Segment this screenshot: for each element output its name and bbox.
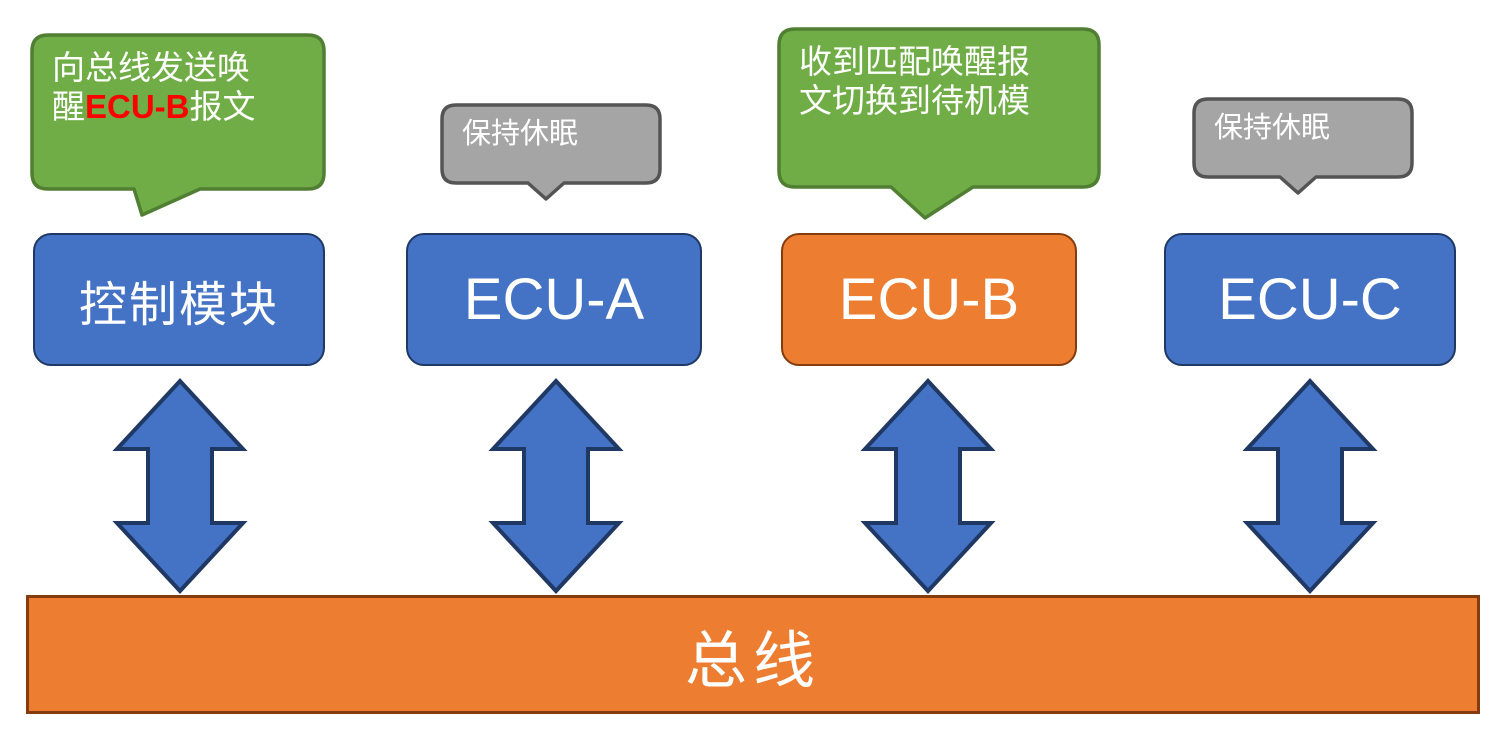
node-ecu-a-label: ECU-A: [464, 266, 644, 333]
callout-ecu-a[interactable]: 保持休眠: [440, 103, 662, 219]
node-control-module-label: 控制模块: [79, 265, 279, 335]
arrow-control-module-bus: [112, 378, 248, 594]
bus-bar[interactable]: 总线: [26, 595, 1480, 714]
double-arrow-icon: [112, 378, 248, 594]
callout-ecu-c[interactable]: 保持休眠: [1192, 97, 1414, 213]
arrow-ecu-a-bus: [488, 378, 624, 594]
double-arrow-icon: [1242, 378, 1378, 594]
node-ecu-b-label: ECU-B: [839, 266, 1019, 333]
callout-bubble-shape: [30, 33, 326, 219]
node-control-module[interactable]: 控制模块: [33, 233, 325, 366]
arrow-ecu-c-bus: [1242, 378, 1378, 594]
double-arrow-icon: [860, 378, 996, 594]
double-arrow-icon: [488, 378, 624, 594]
node-ecu-c[interactable]: ECU-C: [1164, 233, 1456, 366]
bus-bar-label: 总线: [685, 610, 821, 700]
arrow-ecu-b-bus: [860, 378, 996, 594]
callout-bubble-shape: [1192, 97, 1414, 213]
callout-ecu-b[interactable]: 收到匹配唤醒报 文切换到待机模: [777, 27, 1102, 222]
callout-bubble-shape: [440, 103, 662, 219]
node-ecu-b[interactable]: ECU-B: [781, 233, 1077, 366]
callout-control-module[interactable]: 向总线发送唤 醒ECU-B报文: [30, 33, 326, 219]
node-ecu-c-label: ECU-C: [1218, 266, 1402, 333]
diagram-canvas: 向总线发送唤 醒ECU-B报文 保持休眠 收到匹配唤醒报 文切换到待机模 保持休…: [0, 0, 1508, 741]
callout-bubble-shape: [777, 27, 1102, 222]
node-ecu-a[interactable]: ECU-A: [406, 233, 702, 366]
